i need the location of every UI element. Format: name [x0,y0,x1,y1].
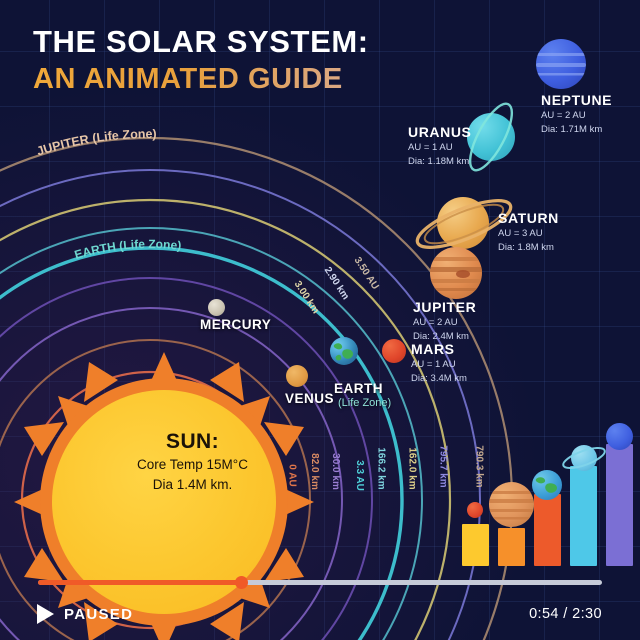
sun-label: SUN: Core Temp 15M°C Dia 1.4M km. [95,430,290,494]
progress-fill [38,580,241,585]
mars-au: AU = 1 AU [411,358,467,371]
arc-label-earth: EARTH (Life Zone) [73,237,182,262]
neptune-dia: Dia: 1.71M km [541,123,612,136]
title-line-2: AN ANIMATED GUIDE [33,64,369,96]
jupiter-au: AU = 2 AU [413,316,476,329]
mars-name: MARS [411,341,467,357]
title-line-1: THE SOLAR SYSTEM: [33,26,369,59]
uranus-au: AU = 1 AU [408,141,472,154]
arc-label-jupiter: JUPITER (Life Zone) [35,127,157,159]
planet-earth-sublabel: (Life Zone) [338,397,391,409]
mars-dia: Dia: 3.4M km [411,372,467,385]
progress-track[interactable] [38,580,602,585]
playback-time-label: 0:54 / 2:30 [529,606,602,622]
uranus-name: URANUS [408,124,472,140]
sun-diameter: Dia 1.4M km. [95,476,290,494]
svg-text:JUPITER (Life Zone): JUPITER (Life Zone) [35,127,157,159]
playback-status-label: PAUSED [64,606,133,623]
page-title: THE SOLAR SYSTEM: AN ANIMATED GUIDE [33,26,369,96]
jupiter-name: JUPITER [413,299,476,315]
sun-core-temp: Core Temp 15M°C [95,456,290,474]
saturn-au: AU = 3 AU [498,227,559,240]
neptune-au: AU = 2 AU [541,109,612,122]
planet-venus-label: VENUS [285,391,334,406]
planet-earth-label: EARTH [334,381,383,396]
uranus-dia: Dia: 1.18M km [408,155,472,168]
infographic-canvas: THE SOLAR SYSTEM: AN ANIMATED GUIDE [0,0,640,640]
saturn-dia: Dia: 1.8M km [498,241,559,254]
progress-knob[interactable] [235,576,248,589]
saturn-name: SATURN [498,210,559,226]
planet-info-uranus: URANUS AU = 1 AU Dia: 1.18M km [408,124,472,169]
planet-info-mars: MARS AU = 1 AU Dia: 3.4M km [411,341,467,386]
planet-info-saturn: SATURN AU = 3 AU Dia: 1.8M km [498,210,559,255]
planet-info-neptune: NEPTUNE AU = 2 AU Dia: 1.71M km [541,92,612,137]
planet-info-jupiter: JUPITER AU = 2 AU Dia: 2.4M km [413,299,476,344]
svg-text:EARTH (Life Zone): EARTH (Life Zone) [73,237,182,262]
planet-mercury-label: MERCURY [200,317,271,332]
neptune-name: NEPTUNE [541,92,612,108]
video-player-controls: PAUSED 0:54 / 2:30 [0,568,640,640]
sun-name: SUN: [95,430,290,454]
play-triangle-icon[interactable] [37,604,54,624]
